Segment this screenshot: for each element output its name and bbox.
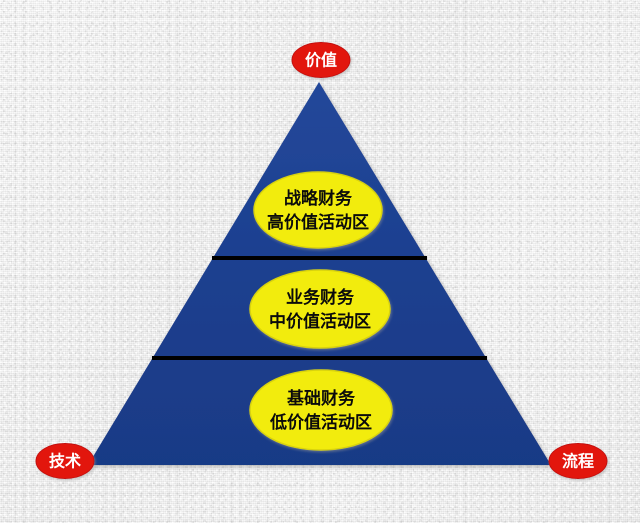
diagram-canvas: 战略财务 高价值活动区 业务财务 中价值活动区 基础财务 低价值活动区 价值 技… (0, 0, 640, 523)
band-top[interactable]: 战略财务 高价值活动区 (254, 172, 382, 248)
band-top-zone-label: 高价值活动区 (267, 212, 369, 233)
band-top-level-label: 战略财务 (284, 188, 353, 209)
pyramid-diagram: 战略财务 高价值活动区 业务财务 中价值活动区 基础财务 低价值活动区 价值 技… (0, 0, 640, 523)
band-bottom-level-label: 基础财务 (286, 388, 356, 409)
band-middle[interactable]: 业务财务 中价值活动区 (250, 270, 390, 348)
corner-apex-label: 价值 (305, 51, 337, 70)
corner-bottom-right[interactable]: 流程 (549, 444, 607, 479)
corner-bottom-right-label: 流程 (562, 452, 594, 471)
corner-bottom-left-label: 技术 (49, 452, 81, 471)
band-middle-zone-label: 中价值活动区 (269, 311, 371, 332)
corner-bottom-left[interactable]: 技术 (36, 444, 94, 479)
band-bottom[interactable]: 基础财务 低价值活动区 (250, 370, 392, 450)
band-bottom-ellipse (250, 370, 392, 450)
corner-apex[interactable]: 价值 (292, 43, 350, 78)
band-bottom-zone-label: 低价值活动区 (269, 412, 372, 433)
band-middle-ellipse (250, 270, 390, 348)
band-top-ellipse (254, 172, 382, 248)
band-middle-level-label: 业务财务 (286, 287, 355, 308)
